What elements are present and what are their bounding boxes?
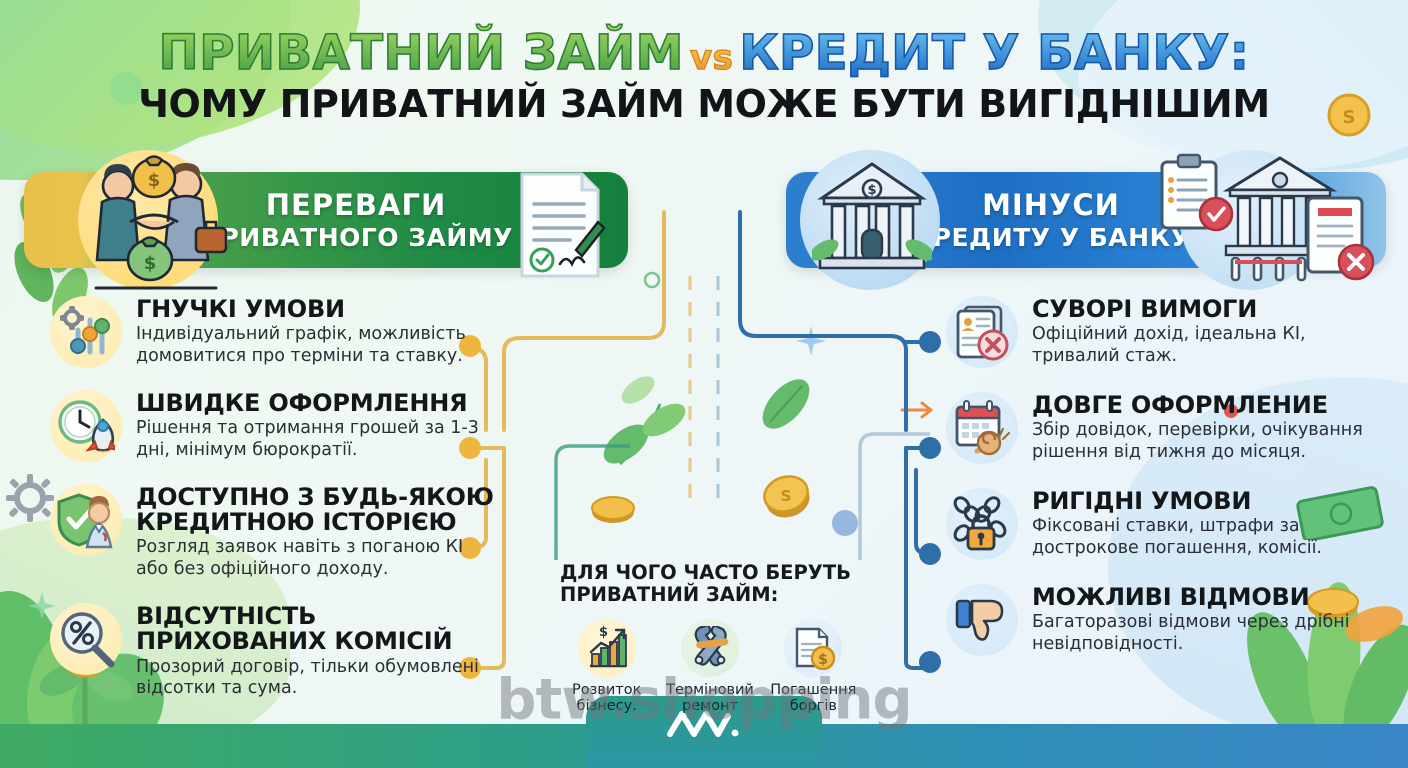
watermark: btw.shopping	[496, 668, 911, 733]
list-item: ШВИДКЕ ОФОРМЛЕННЯ Рішення та отримання г…	[50, 390, 498, 462]
chain-lock-icon	[946, 488, 1018, 560]
sliders-gear-icon	[50, 296, 122, 368]
list-item-heading: ГНУЧКІ УМОВИ	[136, 297, 498, 322]
arrow-right-icon-decor	[900, 398, 940, 422]
infographic-canvas: S S S	[0, 0, 1408, 768]
list-item-heading: ДОВГЕ ОФОРМЛЕНИЕ	[1032, 393, 1382, 418]
handshake-money-icon: $ $	[78, 148, 230, 294]
title-vs: vs	[684, 38, 739, 78]
list-item-text: Фіксовані ставки, штрафи за дострокове п…	[1032, 516, 1382, 560]
list-item-text: Індивідуальний графік, можливість домови…	[136, 324, 498, 368]
leaf-center-right	[752, 364, 822, 444]
list-item: ДОВГЕ ОФОРМЛЕНИЕ Збір довідок, перевірки…	[946, 392, 1382, 464]
thumbs-down-icon	[946, 584, 1018, 656]
bank-building-icon: $	[812, 158, 932, 284]
gear-icon-decor	[6, 474, 54, 522]
sparkle-icon-center	[796, 326, 826, 356]
coin-icon-center-right: S	[758, 470, 814, 520]
list-item: РИГІДНІ УМОВИ Фіксовані ставки, штрафи з…	[946, 488, 1382, 560]
ring-dot-decor	[640, 268, 664, 292]
list-item-heading: МОЖЛИВІ ВІДМОВИ	[1032, 585, 1382, 610]
list-item-text: Багаторазові відмови через дрібні невідп…	[1032, 612, 1382, 656]
svg-text:$: $	[148, 170, 161, 191]
list-item-heading: РИГІДНІ УМОВИ	[1032, 489, 1382, 514]
list-item-text: Прозорий договір, тільки обумовлені відс…	[136, 657, 498, 701]
bank-documents-icon	[1148, 152, 1378, 284]
leaf-sprig-center-left	[600, 344, 700, 484]
center-heading-line2: ПРИВАТНИЙ ЗАЙМ:	[560, 584, 860, 606]
center-heading-line1: ДЛЯ ЧОГО ЧАСТО БЕРУТЬ	[560, 562, 860, 584]
list-item: МОЖЛИВІ ВІДМОВИ Багаторазові відмови чер…	[946, 584, 1382, 656]
svg-text:S: S	[781, 487, 792, 505]
title-subtitle: ЧОМУ ПРИВАТНИЙ ЗАЙМ МОЖЕ БУТИ ВИГІДНІШИМ	[0, 82, 1408, 126]
list-item: ВІДСУТНІСТЬ ПРИХОВАНИХ КОМІСІЙ Прозорий …	[50, 603, 498, 700]
dot-blue-decor	[832, 510, 858, 536]
list-item-heading: ШВИДКЕ ОФОРМЛЕННЯ	[136, 391, 498, 416]
svg-text:$: $	[144, 253, 157, 274]
svg-text:$: $	[599, 626, 608, 640]
list-item-text: Рішення та отримання грошей за 1-3 дні, …	[136, 418, 498, 462]
clock-rocket-icon	[50, 390, 122, 462]
pros-list: ГНУЧКІ УМОВИ Індивідуальний графік, можл…	[50, 296, 498, 722]
magnifier-percent-icon	[50, 603, 122, 675]
contract-signature-icon	[498, 164, 618, 284]
title-bank-credit: КРЕДИТ У БАНКУ:	[739, 25, 1249, 81]
list-item-text: Збір довідок, перевірки, очікування ріше…	[1032, 420, 1382, 464]
list-item-text: Розгляд заявок навіть з поганою КІ або б…	[136, 537, 498, 581]
list-item-heading: ВІДСУТНІСТЬ ПРИХОВАНИХ КОМІСІЙ	[136, 604, 498, 654]
list-item: СУВОРІ ВИМОГИ Офіційний дохід, ідеальна …	[946, 296, 1382, 368]
banner-pros-line1: ПЕРЕВАГИ	[199, 188, 513, 222]
banner-pros-line2: ПРИВАТНОГО ЗАЙМУ	[199, 223, 513, 252]
list-item: ГНУЧКІ УМОВИ Індивідуальний графік, можл…	[50, 296, 498, 368]
title-private-loan: ПРИВАТНИЙ ЗАЙМ	[159, 25, 684, 81]
cons-list: СУВОРІ ВИМОГИ Офіційний дохід, ідеальна …	[946, 296, 1382, 680]
title-line-1: ПРИВАТНИЙ ЗАЙМvsКРЕДИТ У БАНКУ:	[159, 28, 1250, 78]
list-item-heading: ДОСТУПНО З БУДЬ-ЯКОЮ КРЕДИТНОЮ ІСТОРІЄЮ	[136, 485, 498, 535]
document-reject-icon	[946, 296, 1018, 368]
page-title: ПРИВАТНИЙ ЗАЙМvsКРЕДИТ У БАНКУ: ЧОМУ ПРИ…	[0, 28, 1408, 126]
calendar-snail-icon	[946, 392, 1018, 464]
svg-text:$: $	[818, 652, 828, 668]
svg-text:$: $	[867, 183, 876, 198]
shield-person-icon	[50, 484, 122, 556]
list-item: ДОСТУПНО З БУДЬ-ЯКОЮ КРЕДИТНОЮ ІСТОРІЄЮ …	[50, 484, 498, 581]
list-item-heading: СУВОРІ ВИМОГИ	[1032, 297, 1382, 322]
coin-icon-center-left	[588, 492, 638, 528]
list-item-text: Офіційний дохід, ідеальна КІ, тривалий с…	[1032, 324, 1382, 368]
